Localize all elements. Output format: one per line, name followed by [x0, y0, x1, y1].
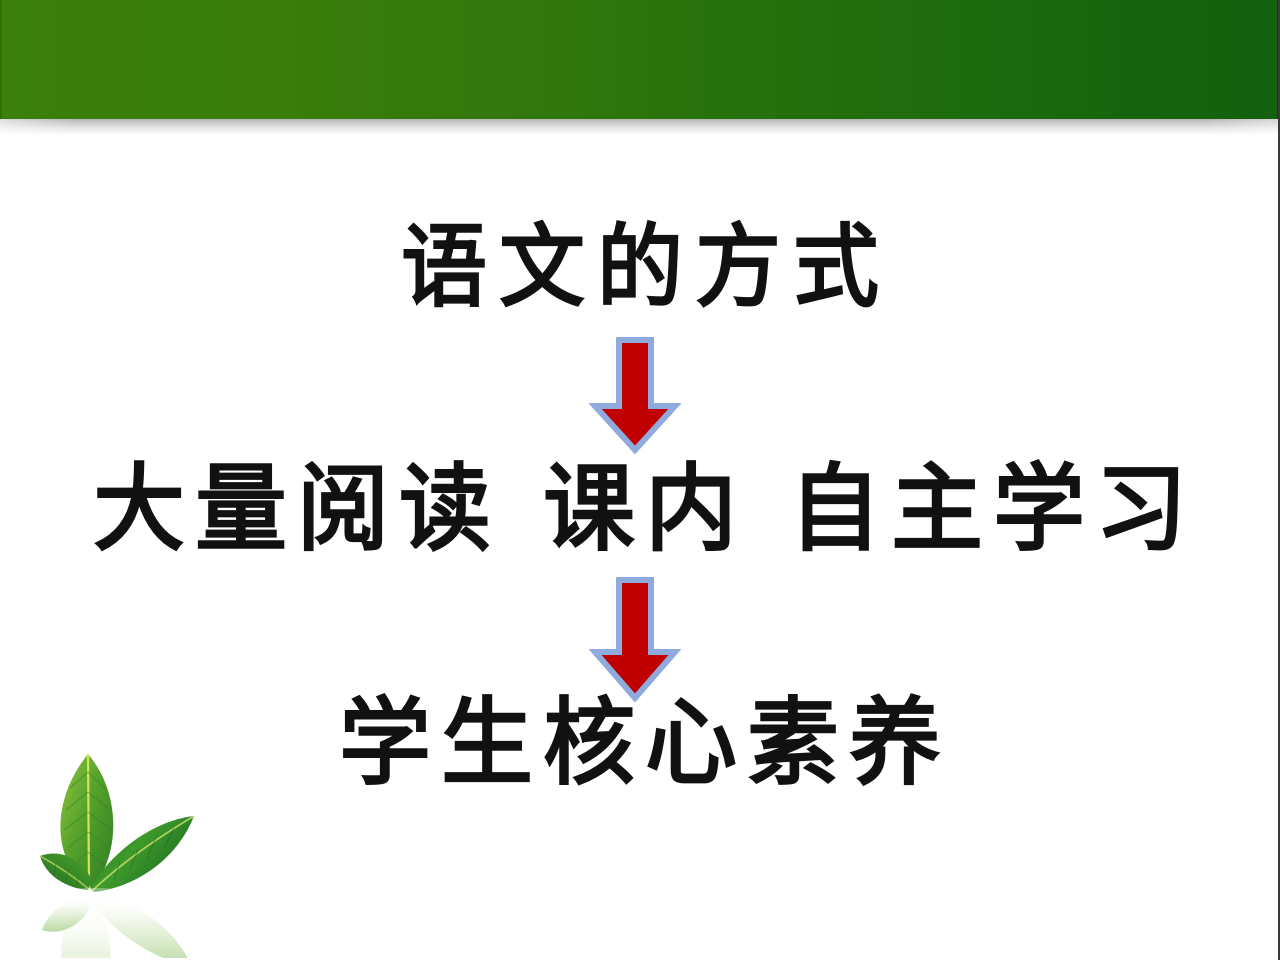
slide-title: 语文的方式 — [0, 222, 1280, 313]
leaf-decoration-icon — [14, 736, 214, 958]
arrow-down-icon-1 — [589, 336, 681, 454]
header-banner — [0, 0, 1280, 119]
banner-left-edge — [0, 0, 2, 119]
slide-middle-text: 大量阅读 课内 自主学习 — [0, 462, 1280, 558]
presentation-slide: 语文的方式 大量阅读 课内 自主学习 学生核心素养 — [0, 0, 1280, 960]
banner-drop-shadow — [0, 119, 1280, 135]
arrow-down-icon-2 — [589, 576, 681, 702]
